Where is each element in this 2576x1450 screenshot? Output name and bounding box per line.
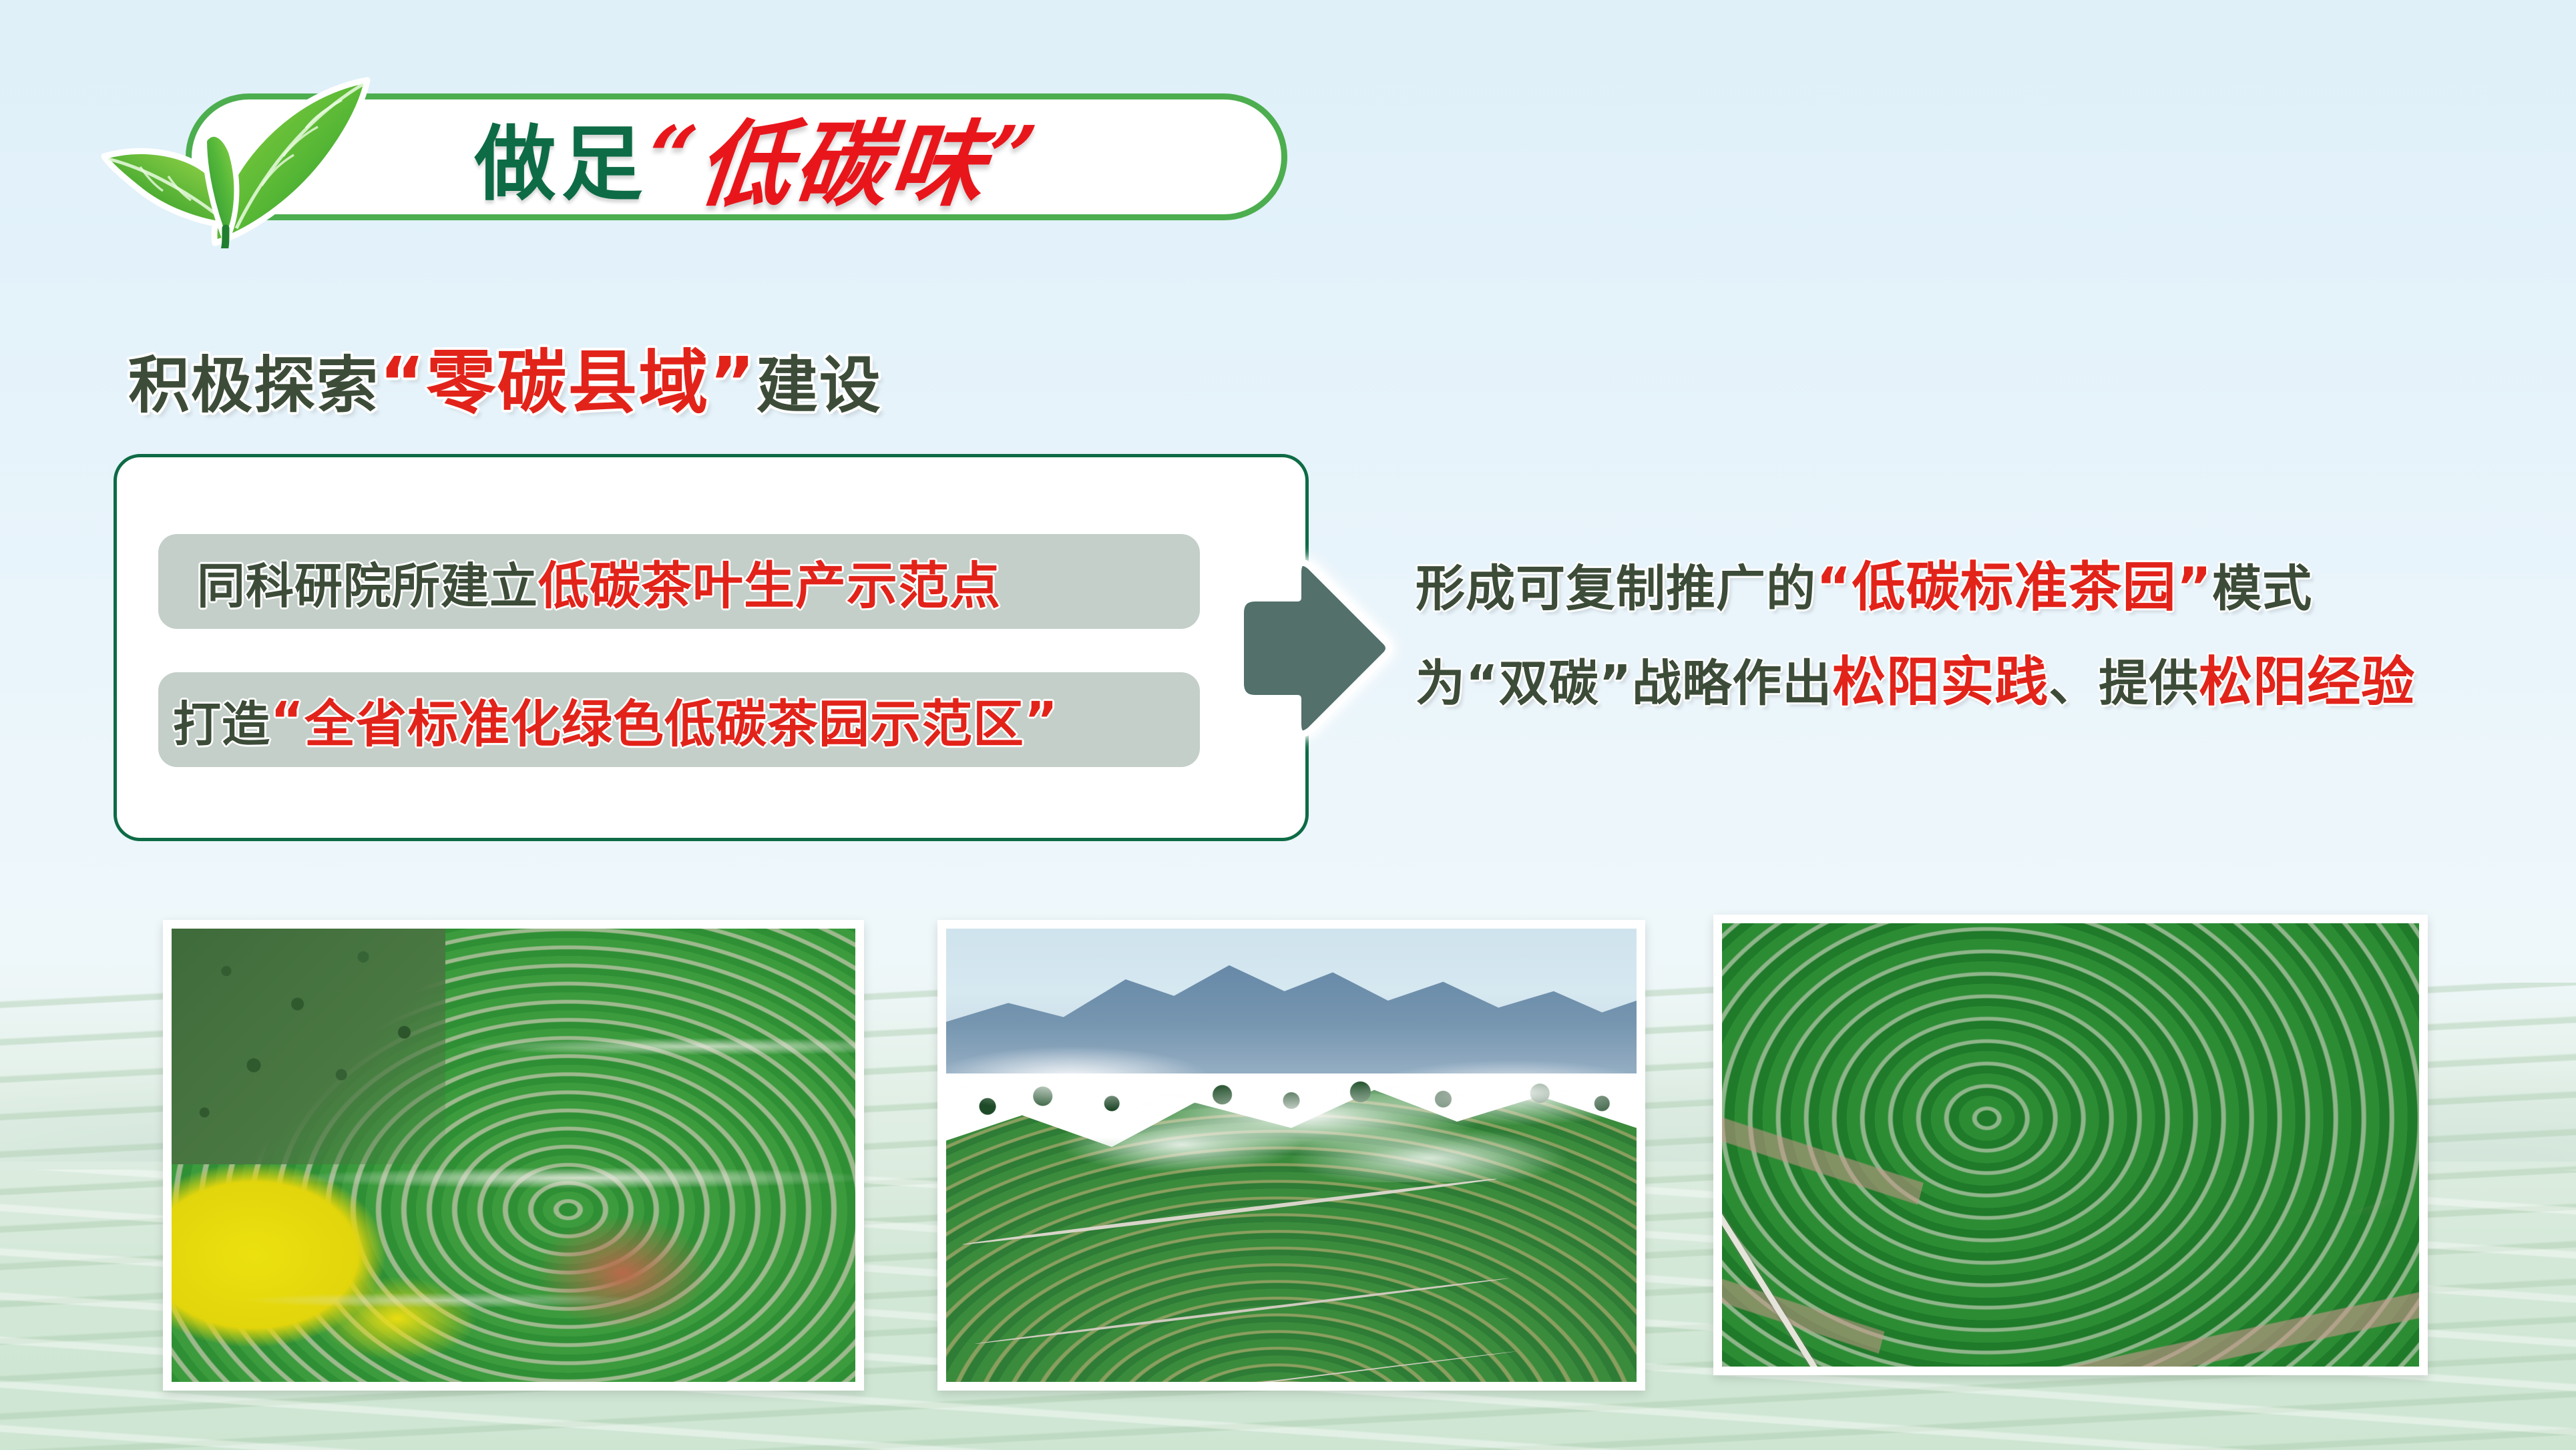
photo-3-road-layer [1722,1173,1859,1367]
result-line-1-tail: 模式 [2212,560,2312,618]
photo-misty-mountain-tea-terraces [937,920,1645,1391]
photo-aerial-terraced-tea-fields [163,920,864,1391]
subtitle-lead: 积极探索 [128,350,379,421]
result-line-1-quote-open: “ [1816,556,1852,618]
subtitle-quote-close: ” [709,342,756,423]
subtitle: 积极探索“零碳县域”建设 [128,326,882,427]
pill-2-highlight: 全省标准化绿色低碳茶园示范区 [304,683,1024,756]
photo-3-artwork [1722,923,2419,1367]
result-line-1-lead: 形成可复制推广的 [1416,560,1816,618]
result-text-block: 形成可复制推广的“低碳标准茶园”模式 为“双碳”战略作出松阳实践、提供松阳经验 [1416,561,2551,709]
initiative-card: 同科研院所建立低碳茶叶生产示范点 打造“全省标准化绿色低碳茶园示范区” [114,454,1309,841]
subtitle-tail: 建设 [757,350,882,421]
initiative-pill-2: 打造“全省标准化绿色低碳茶园示范区” [158,672,1200,767]
initiative-pill-1: 同科研院所建立低碳茶叶生产示范点 [158,534,1200,629]
result-line-1-highlight: 低碳标准茶园 [1852,556,2177,618]
title-green-text: 做足 [475,98,648,216]
subtitle-quote-open: “ [379,342,426,423]
photo-2-fog-layer [946,1010,1637,1182]
result-line-2-highlight-1: 松阳实践 [1832,651,2049,713]
photo-1-artwork [172,929,855,1382]
title-banner-text: 做足 “ 低碳味 ” [186,93,1287,220]
slide-root: 做足 “ 低碳味 ” [0,0,2576,1450]
result-line-1-quote-close: ” [2177,556,2213,618]
result-line-1: 形成可复制推广的“低碳标准茶园”模式 [1416,561,2551,614]
pill-2-lead: 打造 [173,685,270,755]
result-line-2-highlight-2: 松阳经验 [2199,651,2415,713]
pill-2-quote-open: “ [270,690,304,750]
photo-1-image [172,929,855,1382]
title-banner: 做足 “ 低碳味 ” [186,93,1287,220]
result-line-2-lead: 为“双碳”战略作出 [1416,655,1832,712]
title-red-text: 低碳味 [692,89,994,224]
photo-2-image [946,929,1637,1382]
result-line-2: 为“双碳”战略作出松阳实践、提供松阳经验 [1416,656,2551,709]
result-line-2-mid: 、提供 [2049,655,2199,712]
subtitle-highlight: 零碳县域 [426,342,709,423]
right-arrow-icon [1234,554,1393,740]
pill-1-highlight: 低碳茶叶生产示范点 [538,545,1001,618]
photo-3-image [1722,923,2419,1367]
pill-2-quote-close: ” [1024,690,1058,750]
pill-1-lead: 同科研院所建立 [197,547,538,617]
title-quote-close: ” [982,107,1044,206]
photo-2-artwork [946,929,1637,1382]
photo-contour-tea-plantation-overhead [1713,915,2428,1375]
